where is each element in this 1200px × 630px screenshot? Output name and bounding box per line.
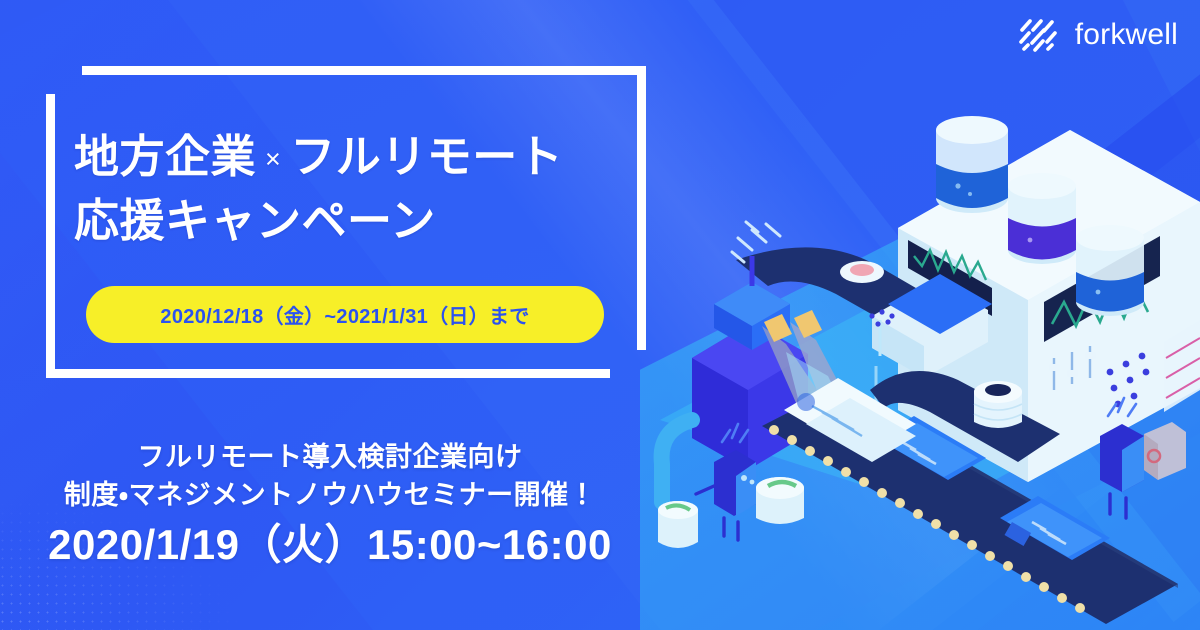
cross-symbol-icon: × bbox=[256, 144, 290, 174]
seminar-datetime-line: 2020/1/19（火）15:00~16:00 bbox=[0, 516, 660, 574]
frame-line-bottom bbox=[46, 369, 610, 378]
forkwell-slash-mark-icon bbox=[1018, 18, 1062, 52]
headline-block: 地方企業×フルリモート 応援キャンペーン bbox=[74, 126, 630, 252]
liquid-tank-blue bbox=[936, 116, 1008, 213]
liquid-tank-purple bbox=[1008, 173, 1076, 264]
forkwell-logo[interactable]: forkwell bbox=[1018, 18, 1178, 52]
headline-line-1: 地方企業×フルリモート bbox=[74, 126, 630, 190]
forkwell-wordmark: forkwell bbox=[1075, 18, 1178, 52]
frame-line-left bbox=[46, 94, 55, 378]
frame-line-right bbox=[637, 66, 646, 350]
data-drum bbox=[974, 381, 1022, 428]
headline-line1-right: フルリモート bbox=[290, 131, 563, 182]
campaign-banner: 地方企業×フルリモート 応援キャンペーン 2020/12/18（金）~2021/… bbox=[0, 0, 1200, 630]
isometric-factory-illustration bbox=[640, 90, 1200, 630]
headline-line-2: 応援キャンペーン bbox=[74, 190, 630, 252]
seminar-title-line: 制度・マネジメントノウハウセミナー開催！ bbox=[0, 476, 660, 514]
campaign-period-badge: 2020/12/18（金）~2021/1/31（日）まで bbox=[86, 286, 604, 343]
liquid-tank-blue-2 bbox=[1076, 225, 1144, 316]
seminar-info-block: フルリモート導入検討企業向け 制度・マネジメントノウハウセミナー開催！ 2020… bbox=[0, 438, 660, 574]
campaign-period-text: 2020/12/18（金）~2021/1/31（日）まで bbox=[160, 300, 529, 329]
frame-line-top bbox=[82, 66, 646, 75]
headline-line1-left: 地方企業 bbox=[74, 131, 256, 182]
seminar-target-line: フルリモート導入検討企業向け bbox=[0, 438, 660, 476]
